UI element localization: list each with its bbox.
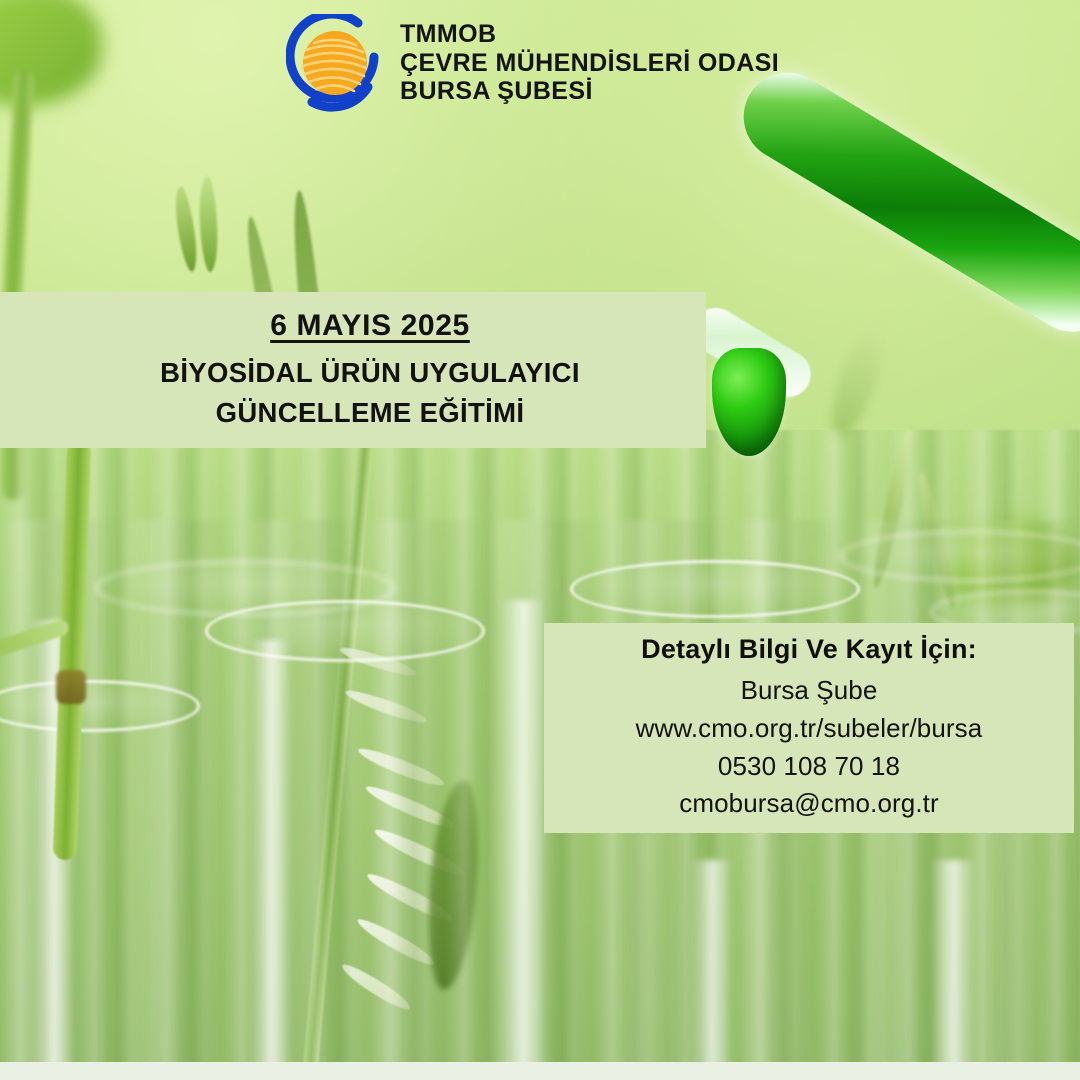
poster-canvas: TMMOB ÇEVRE MÜHENDİSLERİ ODASI BURSA ŞUB… xyxy=(0,0,1080,1080)
contact-info-panel: Detaylı Bilgi Ve Kayıt İçin: Bursa Şube … xyxy=(544,623,1074,833)
tmmob-globe-logo-icon xyxy=(286,14,384,112)
liquid-droplet xyxy=(712,348,786,456)
tube-highlight-5 xyxy=(930,860,976,1080)
event-title-line-1: BİYOSİDAL ÜRÜN UYGULAYICI xyxy=(160,354,580,392)
tube-highlight-2 xyxy=(250,640,290,1080)
event-date: 6 MAYIS 2025 xyxy=(270,309,470,343)
contact-heading: Detaylı Bilgi Ve Kayıt İçin: xyxy=(641,634,977,665)
tube-rim-center xyxy=(570,560,860,618)
tmmob-logo-text: TMMOB ÇEVRE MÜHENDİSLERİ ODASI BURSA ŞUB… xyxy=(400,20,779,106)
logo-line-1: TMMOB xyxy=(400,20,779,49)
tube-rim-back xyxy=(95,560,395,616)
contact-website[interactable]: www.cmo.org.tr/subeler/bursa xyxy=(636,710,983,747)
event-title-panel: 6 MAYIS 2025 BİYOSİDAL ÜRÜN UYGULAYICI G… xyxy=(0,292,706,448)
logo-line-2: ÇEVRE MÜHENDİSLERİ ODASI xyxy=(400,49,779,78)
tube-highlight-3 xyxy=(500,600,544,1080)
tube-highlight-4 xyxy=(690,860,732,1080)
event-title-line-2: GÜNCELLEME EĞİTİMİ xyxy=(216,394,525,432)
logo-line-3: BURSA ŞUBESİ xyxy=(400,77,779,106)
dropper-pipette xyxy=(690,60,1080,480)
pipette-body xyxy=(727,56,1080,348)
bottom-band xyxy=(0,1062,1080,1080)
stem-node-left xyxy=(56,670,86,704)
background-photo xyxy=(0,0,1080,1080)
contact-phone[interactable]: 0530 108 70 18 xyxy=(718,748,900,785)
contact-email[interactable]: cmobursa@cmo.org.tr xyxy=(679,785,938,822)
contact-branch: Bursa Şube xyxy=(741,672,878,709)
tmmob-logo: TMMOB ÇEVRE MÜHENDİSLERİ ODASI BURSA ŞUB… xyxy=(286,14,779,112)
